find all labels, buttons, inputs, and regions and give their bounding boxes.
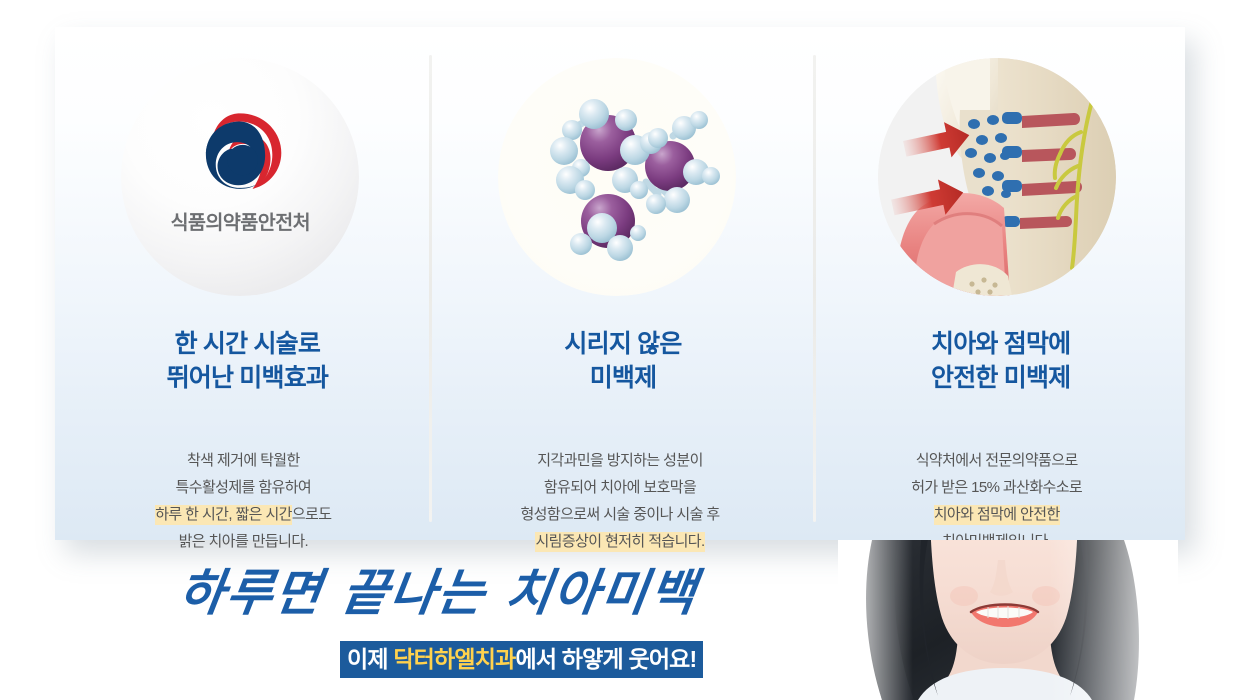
promo-banner: 식품의약품안전처 한 시간 시술로 뛰어난 미백효과 착색 제거에 탁월한 특수…	[0, 0, 1240, 700]
highlight-text: 치아와 점막에 안전한	[934, 505, 1060, 525]
body-line: 착색 제거에 탁월한	[55, 447, 432, 474]
body-line-highlighted: 치아와 점막에 안전한	[808, 501, 1185, 528]
body-line: 특수활성제를 함유하여	[55, 474, 432, 501]
feature-column-whitening-effect: 식품의약품안전처 한 시간 시술로 뛰어난 미백효과 착색 제거에 탁월한 특수…	[55, 27, 432, 540]
mfds-logo-caption: 식품의약품안전처	[171, 206, 311, 235]
svg-text:하루면 끝나는 치아미백: 하루면 끝나는 치아미백	[175, 563, 707, 622]
column-body: 식약처에서 전문의약품으로 허가 받은 15% 과산화수소로 치아와 점막에 안…	[808, 447, 1185, 555]
highlight-text: 하루 한 시간, 짧은 시간	[155, 505, 292, 525]
body-line: 지각과민을 방지하는 성분이	[432, 447, 809, 474]
script-headline-lettering: 하루면 끝나는 치아미백	[168, 556, 728, 628]
body-line: 식약처에서 전문의약품으로	[808, 447, 1185, 474]
highlight-text: 시림증상이 현저히 적습니다.	[535, 532, 704, 552]
column-body: 착색 제거에 탁월한 특수활성제를 함유하여 하루 한 시간, 짧은 시간으로도…	[55, 447, 432, 555]
cta-brand: 닥터하엘치과	[393, 646, 515, 672]
highlight-suffix: 으로도	[292, 506, 332, 523]
mfds-logo-group: 식품의약품안전처	[121, 108, 359, 235]
body-line: 밝은 치아를 만듭니다.	[55, 528, 432, 555]
column-divider	[813, 55, 816, 522]
column-divider	[429, 55, 432, 522]
molecule-icon	[498, 58, 736, 296]
script-headline: 하루면 끝나는 치아미백	[168, 556, 728, 628]
feature-column-safe-agent: 치아와 점막에 안전한 미백제 식약처에서 전문의약품으로 허가 받은 15% …	[808, 27, 1185, 540]
tooth-illustration	[878, 58, 1116, 296]
molecule-illustration	[498, 58, 736, 296]
model-illustration	[838, 540, 1178, 700]
taegeuk-emblem-icon	[186, 108, 294, 196]
body-line: 함유되어 치아에 보호막을	[432, 474, 809, 501]
column-heading: 한 시간 시술로 뛰어난 미백효과	[55, 327, 432, 395]
column-heading: 시리지 않은 미백제	[432, 327, 809, 395]
feature-column-no-sensitivity: 시리지 않은 미백제 지각과민을 방지하는 성분이 함유되어 치아에 보호막을 …	[432, 27, 809, 540]
column-body: 지각과민을 방지하는 성분이 함유되어 치아에 보호막을 형성함으로써 시술 중…	[432, 447, 809, 555]
cta-banner[interactable]: 이제 닥터하엘치과에서 하얗게 웃어요!	[340, 641, 703, 678]
mfds-logo-icon: 식품의약품안전처	[121, 58, 359, 296]
feature-columns: 식품의약품안전처 한 시간 시술로 뛰어난 미백효과 착색 제거에 탁월한 특수…	[55, 27, 1185, 540]
cta-prefix: 이제	[347, 646, 393, 672]
body-line: 형성함으로써 시술 중이나 시술 후	[432, 501, 809, 528]
column-heading: 치아와 점막에 안전한 미백제	[808, 327, 1185, 395]
tooth-cross-section-icon	[878, 58, 1116, 296]
feature-card: 식품의약품안전처 한 시간 시술로 뛰어난 미백효과 착색 제거에 탁월한 특수…	[55, 27, 1185, 540]
body-line-highlighted: 시림증상이 현저히 적습니다.	[432, 528, 809, 555]
body-line-highlighted: 하루 한 시간, 짧은 시간으로도	[55, 501, 432, 528]
cta-suffix: 에서 하얗게 웃어요!	[515, 646, 696, 672]
body-line: 허가 받은 15% 과산화수소로	[808, 474, 1185, 501]
cta-text: 이제 닥터하엘치과에서 하얗게 웃어요!	[347, 648, 696, 671]
smiling-woman-photo	[838, 540, 1178, 700]
